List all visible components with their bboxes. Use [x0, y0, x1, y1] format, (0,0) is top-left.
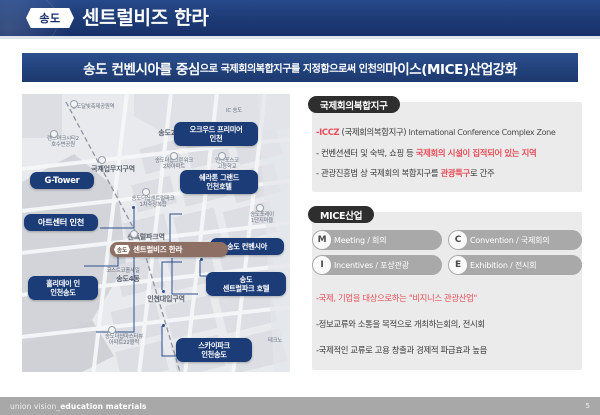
- mice-item-label: Incentives / 포상관광: [334, 260, 409, 271]
- footer-text: union vision_education materials: [10, 402, 147, 411]
- map-poi-dot: [132, 206, 135, 209]
- mice-item-convention[interactable]: C Convention / 국제회의: [448, 230, 582, 250]
- map-poi-marker: [98, 156, 106, 164]
- map-poi-dot: [162, 324, 165, 327]
- slide: 송도 센트럴비즈 한라 송도 컨벤시아를 중심으로 국제회의복합지구를 지정함으…: [0, 0, 600, 415]
- iccz-section-title: 국제회의복합지구: [308, 96, 400, 113]
- iccz-bullet-abbr: ICCZ: [319, 127, 339, 137]
- map-callout-holiday-inn-incheon-songdo[interactable]: 홀리데이 인 인천송도: [28, 276, 98, 300]
- map-label-place: 송도달빛축제공원역: [54, 104, 132, 110]
- map-label-place: 인천대입구역: [136, 296, 196, 302]
- map-label-place: 송도포레이 1단지마을: [238, 212, 286, 225]
- map-label-place: 테크노: [260, 338, 290, 344]
- slide-footer: union vision_education materials 5: [0, 397, 600, 415]
- mice-section-title: MICE산업: [308, 206, 374, 223]
- subtitle-part-3: 마이스(MICE)산업강화: [385, 58, 517, 78]
- map-poi-marker: [218, 152, 226, 160]
- mice-panel: MICE산업 M Meeting / 회의 C Convention / 국제회…: [304, 206, 582, 372]
- footer-bold: education materials: [60, 402, 146, 411]
- map-label-place: 송도4동: [108, 276, 148, 282]
- iccz-bullet-post: 로 간주: [470, 168, 494, 178]
- iccz-bullet-item: -ICCZ (국제회의복합지구) International Conferenc…: [316, 126, 582, 139]
- map-callout-sheraton-grand-incheon-hotel[interactable]: 쉐라톤 그랜드 인천호텔: [180, 170, 258, 194]
- footer-prefix: union vision_: [10, 402, 60, 411]
- mice-item-label: Meeting / 회의: [334, 235, 386, 246]
- map-center-marker[interactable]: 송도 센트럴비즈 한라: [110, 242, 228, 257]
- subtitle-part-1: 송도 컨벤시아를 중심: [83, 58, 200, 78]
- map-poi-marker: [170, 152, 178, 160]
- slide-header: 송도 센트럴비즈 한라: [0, 0, 600, 36]
- iccz-bullet-pre: 컨벤션센터 및 숙박, 쇼핑 등: [319, 148, 416, 158]
- map-callout-art-center-incheon[interactable]: 아트센터 인천: [24, 214, 98, 231]
- songdo-map[interactable]: 송도달빛축제공원역 랜드마크시티2 호수변공원 국제업무지구역 송도2동 IC …: [22, 94, 290, 372]
- map-poi-marker: [142, 188, 150, 196]
- mice-letter-badge-i: I: [313, 256, 331, 274]
- subtitle-part-2: 으로 국제회의복합지구를 지정함으로써 인천의: [200, 60, 385, 75]
- iccz-panel: 국제회의복합지구 -ICCZ (국제회의복합지구) International …: [304, 96, 582, 192]
- map-poi-dot: [200, 258, 203, 261]
- map-label-place: 센트럴파크역: [118, 234, 174, 240]
- iccz-bullet-highlight: 국제회의 시설이 집적되어 있는 지역: [416, 148, 537, 158]
- iccz-bullet-english: International Conference Complex Zone: [409, 128, 556, 137]
- map-callout-skypark-incheon-songdo[interactable]: 스카이파크 인천송도: [176, 338, 252, 362]
- mice-item-meeting[interactable]: M Meeting / 회의: [312, 230, 442, 250]
- mice-letter-badge-c: C: [449, 231, 467, 249]
- mice-letter-badge-m: M: [313, 231, 331, 249]
- mice-bullet-item: -국제적인 교류로 고용 창출과 경제적 파급효과 높음: [316, 344, 582, 356]
- iccz-bullet-item: - 관광진흥법 상 국제회의 복합지구를 관광특구로 간주: [316, 167, 582, 179]
- mice-item-label: Convention / 국제회의: [470, 235, 549, 246]
- center-marker-label: 센트럴비즈 한라: [133, 244, 182, 255]
- mice-bullet-item: -정보교류와 소통을 목적으로 개최하는회의, 전시회: [316, 318, 582, 330]
- iccz-bullet-pre: 관광진흥법 상 국제회의 복합지구를: [319, 168, 441, 178]
- iccz-bullet-list: -ICCZ (국제회의복합지구) International Conferenc…: [316, 126, 582, 187]
- iccz-bullet-highlight: 관광특구: [441, 168, 470, 178]
- map-callout-g-tower[interactable]: G-Tower: [30, 172, 94, 189]
- map-label-place: 랜드마크시티2 호수변공원: [32, 136, 94, 149]
- map-poi-marker: [50, 130, 58, 138]
- iccz-bullet-korean: (국제회의복합지구): [342, 127, 407, 137]
- map-poi-dot: [162, 290, 165, 293]
- iccz-bullet-item: - 컨벤션센터 및 숙박, 쇼핑 등 국제회의 시설이 집적되어 있는 지역: [316, 147, 582, 159]
- mice-bullet-text: -국제, 기업을 대상으로하는 "비지니스 관광산업": [316, 293, 477, 303]
- map-label-place: 코스트코홀세일: [92, 268, 154, 274]
- map-label-place: 인천포스코 고등학교: [204, 158, 250, 171]
- map-label-place: 송도더샵마스터뷰 아파트22블럭: [86, 334, 162, 347]
- page-title: 센트럴비즈 한라: [82, 4, 209, 32]
- map-label-place: IC 송도: [214, 108, 254, 114]
- mice-bullet-item: -국제, 기업을 대상으로하는 "비지니스 관광산업": [316, 292, 582, 304]
- center-marker-hex-badge: 송도: [114, 245, 130, 254]
- map-poi-marker: [256, 204, 264, 212]
- mice-bullet-list: -국제, 기업을 대상으로하는 "비지니스 관광산업" -정보교류와 소통을 목…: [316, 292, 582, 364]
- map-poi-marker: [108, 326, 116, 334]
- mice-items-grid: M Meeting / 회의 C Convention / 국제회의 I Inc…: [312, 230, 592, 276]
- mice-item-label: Exhibition / 전시회: [470, 260, 536, 271]
- map-poi-marker: [130, 230, 138, 238]
- header-hex-badge: 송도: [26, 8, 74, 28]
- subtitle-banner: 송도 컨벤시아를 중심으로 국제회의복합지구를 지정함으로써 인천의 마이스(M…: [22, 53, 578, 82]
- mice-item-exhibition[interactable]: E Exhibition / 전시회: [448, 255, 582, 275]
- mice-item-incentives[interactable]: I Incentives / 포상관광: [312, 255, 442, 275]
- footer-page-number: 5: [586, 402, 590, 410]
- map-poi-marker: [70, 100, 78, 108]
- map-callout-songdo-central-park-hotel[interactable]: 송도 센트럴파크 호텔: [206, 272, 286, 296]
- map-label-place: 송도더샵센트럴파크 1차주상복합: [116, 196, 190, 209]
- map-callout-oakwood-premier-incheon[interactable]: 오크우드 프리미어 인천: [174, 122, 258, 146]
- mice-letter-badge-e: E: [449, 256, 467, 274]
- header-divider-highlight: [0, 39, 600, 40]
